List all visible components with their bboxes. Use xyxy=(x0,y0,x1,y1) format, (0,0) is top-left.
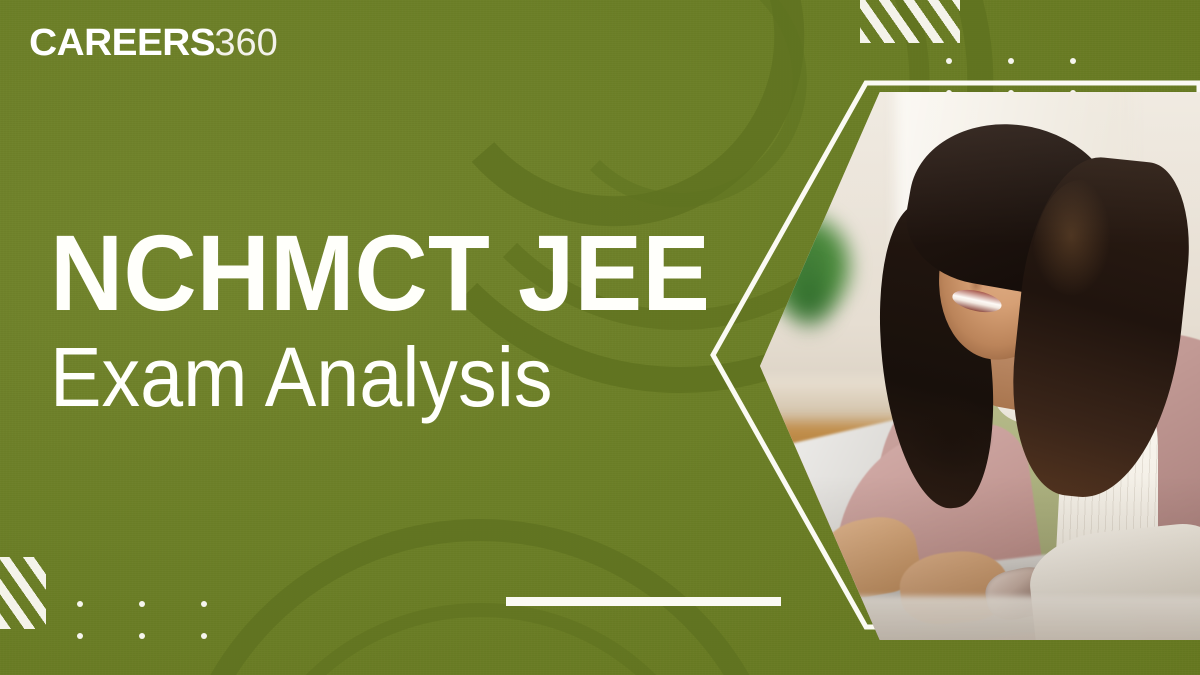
banner-root: CAREERS 360 NCHMCT JEE Exam Analysis xyxy=(0,0,1200,675)
dot xyxy=(1008,58,1014,64)
dot xyxy=(201,601,207,607)
dot xyxy=(77,633,83,639)
careers360-logo[interactable]: CAREERS 360 xyxy=(31,24,278,62)
dot-grid-bottom-left xyxy=(77,601,207,639)
diagonal-stripes-bottom-left xyxy=(0,557,46,629)
page-subtitle: Exam Analysis xyxy=(50,335,657,421)
page-title: NCHMCT JEE xyxy=(50,222,670,325)
headline-block: NCHMCT JEE Exam Analysis xyxy=(50,222,710,420)
hexagon-photo-module xyxy=(700,70,1200,640)
dot xyxy=(1070,58,1076,64)
dot xyxy=(139,601,145,607)
logo-text-careers: CAREERS xyxy=(29,24,215,62)
dot xyxy=(946,58,952,64)
diagonal-stripes-top-right xyxy=(860,0,960,43)
dot xyxy=(77,601,83,607)
logo-text-360: 360 xyxy=(214,24,277,62)
dot xyxy=(139,633,145,639)
dot xyxy=(201,633,207,639)
